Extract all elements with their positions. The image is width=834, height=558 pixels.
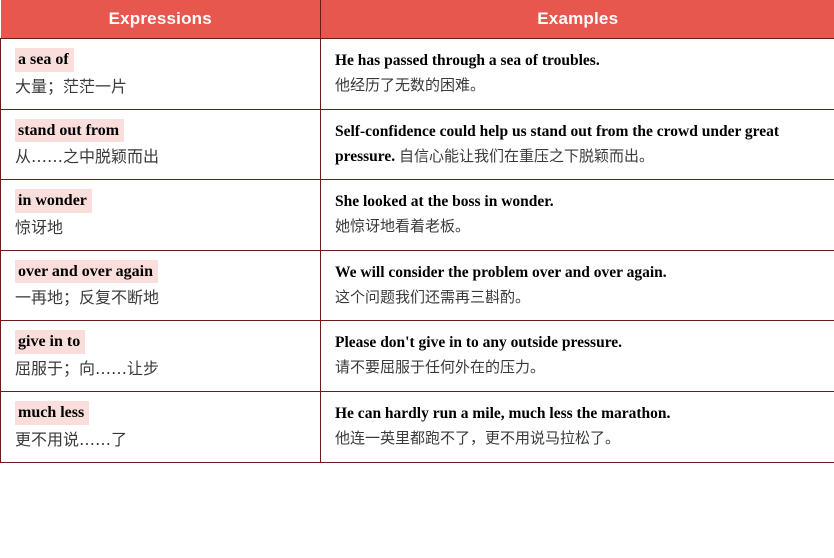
example-sentence-cn: 请不要屈服于任何外在的压力。 bbox=[335, 355, 820, 379]
example-line: We will consider the problem over and ov… bbox=[335, 260, 820, 285]
example-line: Self-confidence could help us stand out … bbox=[335, 119, 820, 169]
expression-term: in wonder bbox=[15, 189, 92, 213]
expression-term: stand out from bbox=[15, 119, 124, 143]
example-line: She looked at the boss in wonder. bbox=[335, 189, 820, 214]
example-cell: We will consider the problem over and ov… bbox=[321, 250, 834, 321]
example-sentence-cn: 他经历了无数的困难。 bbox=[335, 73, 820, 97]
expressions-examples-table: Expressions Examples a sea of大量；茫茫一片He h… bbox=[0, 0, 834, 463]
example-sentence-cn: 这个问题我们还需再三斟酌。 bbox=[335, 285, 820, 309]
expression-cell: give in to屈服于；向……让步 bbox=[1, 321, 321, 392]
table-row: stand out from从……之中脱颖而出Self-confidence c… bbox=[1, 109, 834, 180]
table-header-row: Expressions Examples bbox=[1, 0, 834, 39]
expression-term: a sea of bbox=[15, 48, 74, 72]
example-sentence-cn: 他连一英里都跑不了，更不用说马拉松了。 bbox=[335, 426, 820, 450]
expression-term: over and over again bbox=[15, 260, 158, 284]
expression-term: give in to bbox=[15, 330, 85, 354]
column-header-expressions: Expressions bbox=[1, 0, 321, 39]
example-sentence-en: We will consider the problem over and ov… bbox=[335, 264, 667, 281]
example-cell: He can hardly run a mile, much less the … bbox=[321, 391, 834, 462]
column-header-examples: Examples bbox=[321, 0, 834, 39]
expression-translation: 惊讶地 bbox=[15, 216, 306, 240]
example-sentence-en: She looked at the boss in wonder. bbox=[335, 193, 554, 210]
expression-translation: 大量；茫茫一片 bbox=[15, 75, 306, 99]
expression-translation: 更不用说……了 bbox=[15, 428, 306, 452]
vocabulary-table-container: Expressions Examples a sea of大量；茫茫一片He h… bbox=[0, 0, 834, 558]
example-line: Please don't give in to any outside pres… bbox=[335, 330, 820, 355]
example-cell: Self-confidence could help us stand out … bbox=[321, 109, 834, 180]
example-sentence-cn: 自信心能让我们在重压之下脱颖而出。 bbox=[399, 147, 654, 165]
table-row: over and over again一再地；反复不断地We will cons… bbox=[1, 250, 834, 321]
example-sentence-en: Please don't give in to any outside pres… bbox=[335, 334, 622, 351]
table-header: Expressions Examples bbox=[1, 0, 834, 39]
example-line: He can hardly run a mile, much less the … bbox=[335, 401, 820, 426]
expression-cell: stand out from从……之中脱颖而出 bbox=[1, 109, 321, 180]
example-cell: He has passed through a sea of troubles.… bbox=[321, 39, 834, 110]
expression-cell: a sea of大量；茫茫一片 bbox=[1, 39, 321, 110]
expression-cell: in wonder惊讶地 bbox=[1, 180, 321, 251]
table-row: a sea of大量；茫茫一片He has passed through a s… bbox=[1, 39, 834, 110]
expression-translation: 屈服于；向……让步 bbox=[15, 357, 306, 381]
expression-translation: 从……之中脱颖而出 bbox=[15, 145, 306, 169]
example-sentence-en: He has passed through a sea of troubles. bbox=[335, 52, 600, 69]
table-row: in wonder惊讶地She looked at the boss in wo… bbox=[1, 180, 834, 251]
table-row: give in to屈服于；向……让步Please don't give in … bbox=[1, 321, 834, 392]
example-cell: She looked at the boss in wonder.她惊讶地看着老… bbox=[321, 180, 834, 251]
table-body: a sea of大量；茫茫一片He has passed through a s… bbox=[1, 39, 834, 463]
example-line: He has passed through a sea of troubles. bbox=[335, 48, 820, 73]
example-sentence-en: He can hardly run a mile, much less the … bbox=[335, 405, 670, 422]
expression-cell: much less更不用说……了 bbox=[1, 391, 321, 462]
example-cell: Please don't give in to any outside pres… bbox=[321, 321, 834, 392]
expression-cell: over and over again一再地；反复不断地 bbox=[1, 250, 321, 321]
example-sentence-cn: 她惊讶地看着老板。 bbox=[335, 214, 820, 238]
expression-translation: 一再地；反复不断地 bbox=[15, 286, 306, 310]
expression-term: much less bbox=[15, 401, 89, 425]
table-row: much less更不用说……了He can hardly run a mile… bbox=[1, 391, 834, 462]
